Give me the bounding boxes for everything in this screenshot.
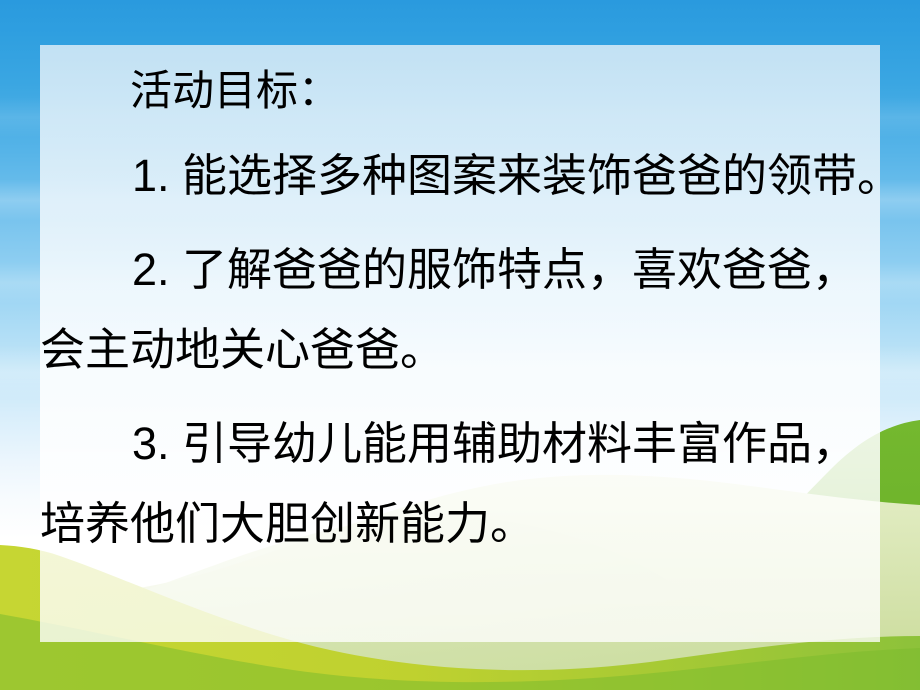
objective-item-2-line-1: 2. 了解爸爸的服饰特点，喜欢爸爸， [132, 241, 857, 299]
objective-item-1: 1. 能选择多种图案来装饰爸爸的领带。 [132, 147, 902, 205]
objective-item-3-line-2: 培养他们大胆创新能力。 [40, 495, 535, 553]
objective-item-2-line-2: 会主动地关心爸爸。 [40, 321, 445, 379]
page-title: 活动目标： [130, 65, 340, 117]
slide-canvas: 活动目标： 1. 能选择多种图案来装饰爸爸的领带。 2. 了解爸爸的服饰特点，喜… [0, 0, 920, 690]
objective-item-3-line-1: 3. 引导幼儿能用辅助材料丰富作品， [132, 415, 857, 473]
content-panel: 活动目标： 1. 能选择多种图案来装饰爸爸的领带。 2. 了解爸爸的服饰特点，喜… [40, 45, 880, 642]
